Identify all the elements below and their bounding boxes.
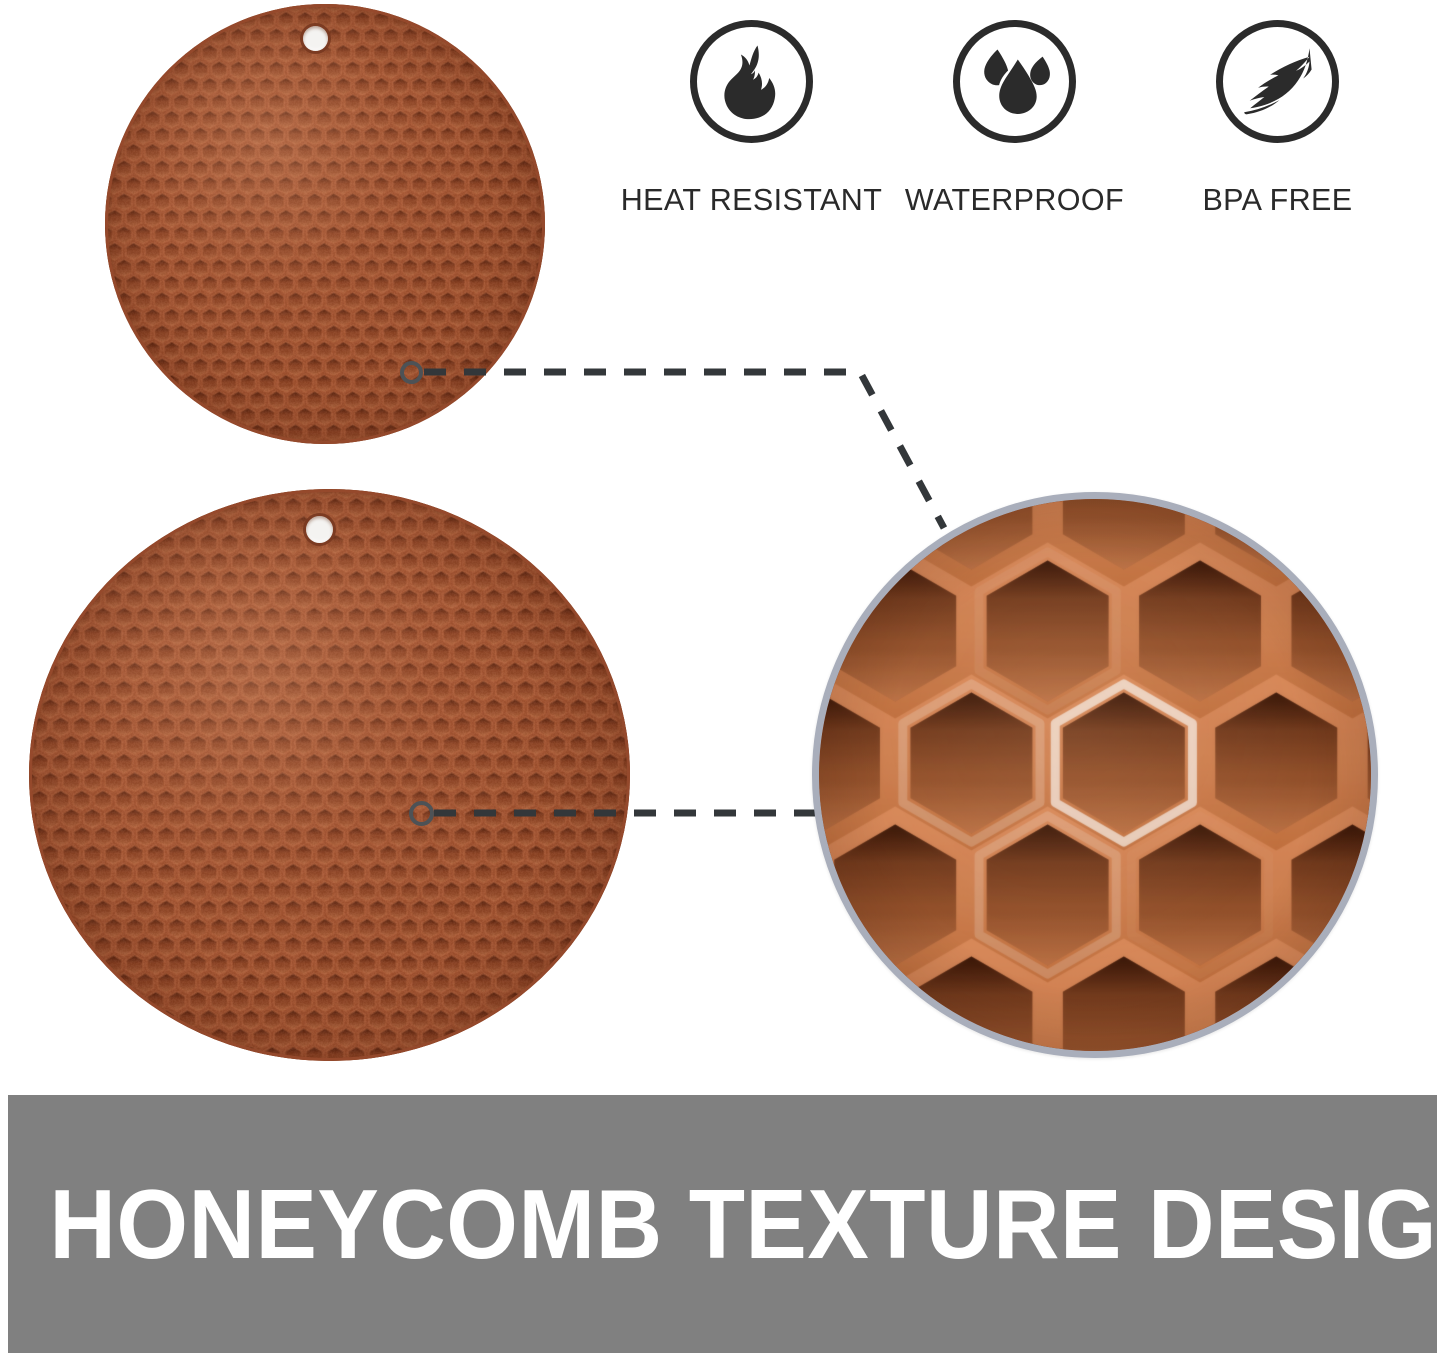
callout-marker-bottom xyxy=(409,801,434,826)
banner-headline: HONEYCOMB TEXTURE DESIGN xyxy=(8,1175,1445,1273)
bottom-banner: HONEYCOMB TEXTURE DESIGN xyxy=(8,1095,1437,1353)
feature-badge-row: HEAT RESISTANT WATERPROOF xyxy=(620,20,1410,270)
honeycomb-texture-bottom xyxy=(29,489,630,1061)
feature-badge-heat-resistant: HEAT RESISTANT xyxy=(620,20,883,218)
feature-badge-bpa-free: BPA FREE xyxy=(1146,20,1409,218)
magnified-texture-image xyxy=(819,499,1371,1051)
feature-badge-waterproof: WATERPROOF xyxy=(883,20,1146,218)
magnified-texture-circle xyxy=(812,492,1378,1058)
honeycomb-texture-top xyxy=(105,4,545,444)
product-infographic: HEAT RESISTANT WATERPROOF xyxy=(0,0,1445,1353)
flame-icon xyxy=(717,43,787,121)
feature-label-heat-resistant: HEAT RESISTANT xyxy=(621,183,883,218)
water-drop-icon xyxy=(976,44,1054,120)
trivet-bottom xyxy=(29,489,630,1061)
feature-label-bpa-free: BPA FREE xyxy=(1202,183,1352,218)
badge-ring-heat-resistant xyxy=(690,20,813,143)
badge-ring-bpa-free xyxy=(1216,20,1339,143)
hanging-hole-bottom xyxy=(306,516,333,543)
hanging-hole-top xyxy=(303,26,328,51)
badge-ring-waterproof xyxy=(953,20,1076,143)
trivet-top xyxy=(105,4,545,444)
honeycomb-macro-texture xyxy=(819,499,1371,1051)
callout-marker-top xyxy=(400,361,423,384)
leaf-icon xyxy=(1239,46,1317,118)
feature-label-waterproof: WATERPROOF xyxy=(905,183,1124,218)
